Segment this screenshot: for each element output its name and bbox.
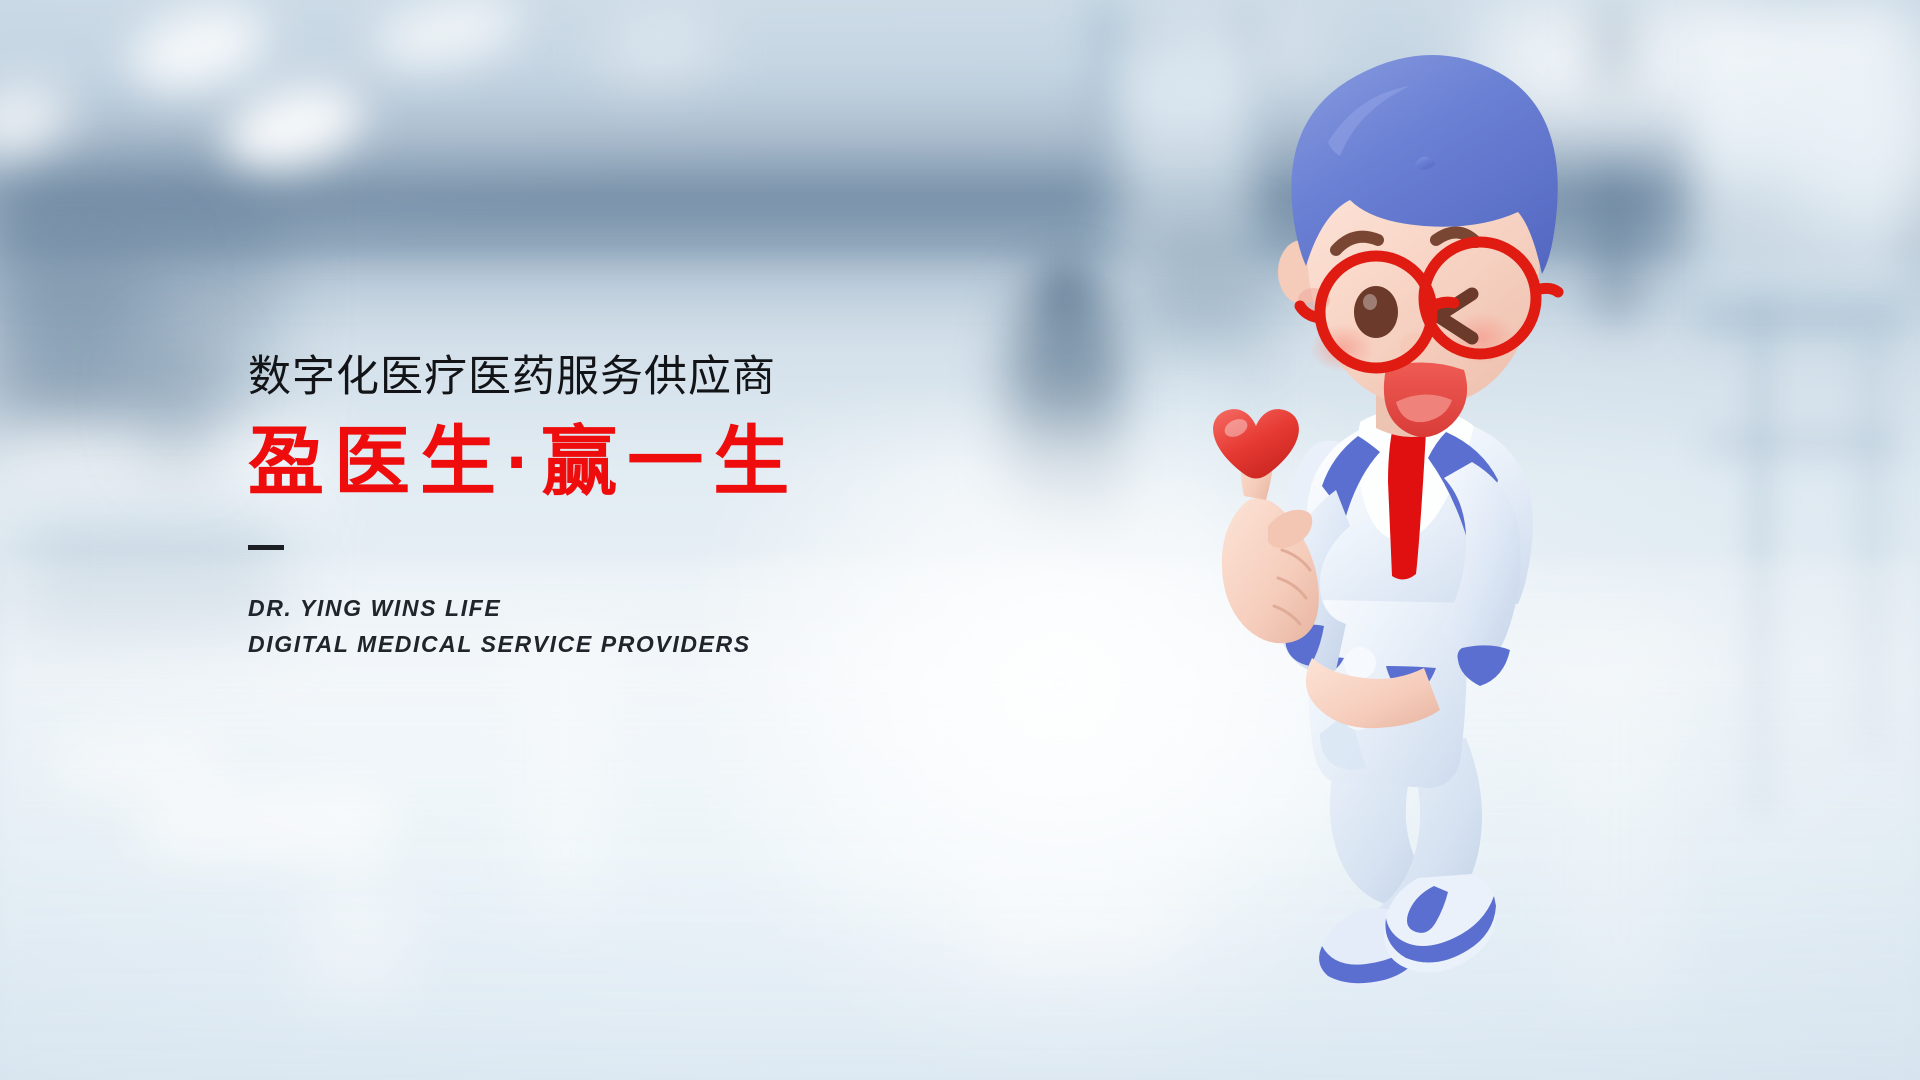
mascot-eye-open bbox=[1354, 286, 1398, 338]
english-subtitle-line-1: DR. YING WINS LIFE bbox=[248, 590, 1008, 626]
headline-block: 数字化医疗医药服务供应商 盈医生·赢一生 DR. YING WINS LIFE … bbox=[248, 356, 1008, 663]
divider-rule bbox=[248, 545, 284, 550]
mascot-body bbox=[1213, 408, 1533, 987]
mascot-coat-button bbox=[1344, 647, 1376, 679]
english-subtitle-block: DR. YING WINS LIFE DIGITAL MEDICAL SERVI… bbox=[248, 590, 1008, 663]
english-subtitle-line-2: DIGITAL MEDICAL SERVICE PROVIDERS bbox=[248, 626, 1008, 662]
mascot-head bbox=[1278, 55, 1558, 437]
headline-chinese: 盈医生·赢一生 bbox=[248, 425, 1008, 501]
subheadline-chinese: 数字化医疗医药服务供应商 bbox=[248, 356, 1008, 399]
heart-icon bbox=[1213, 409, 1299, 478]
doctor-mascot bbox=[1190, 50, 1610, 1050]
banner-stage: 数字化医疗医药服务供应商 盈医生·赢一生 DR. YING WINS LIFE … bbox=[0, 0, 1920, 1080]
